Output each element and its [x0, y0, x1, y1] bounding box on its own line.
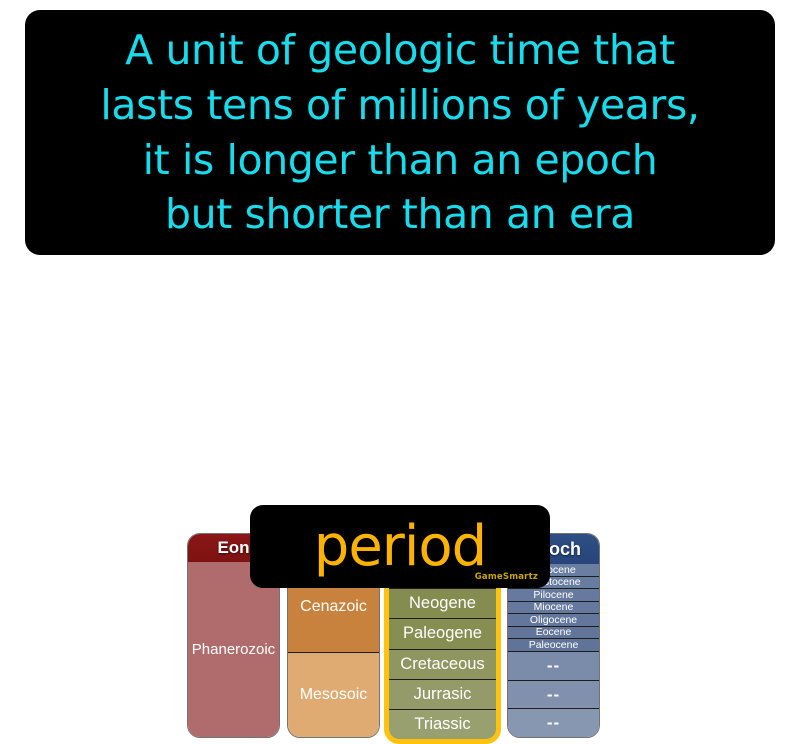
chart-cell-epoch-empty-3: -- — [508, 708, 599, 737]
chart-cell-pilocene: Pilocene — [508, 588, 599, 601]
chart-cell-triassic: Triassic — [389, 709, 496, 739]
term-banner: period GameSmartz — [250, 505, 550, 588]
chart-cell-epoch-empty-2: -- — [508, 680, 599, 709]
definition-text: A unit of geologic time that lasts tens … — [100, 23, 699, 241]
chart-cell-jurrasic: Jurrasic — [389, 679, 496, 709]
watermark-gamesmartz: GameSmartz — [475, 572, 538, 582]
chart-cell-neogene: Neogene — [389, 588, 496, 618]
epoch-coarse-rows: -- -- -- — [508, 651, 599, 737]
chart-cell-cretaceous: Cretaceous — [389, 649, 496, 679]
chart-cell-oligocene: Oligocene — [508, 613, 599, 626]
chart-cell-paleogene: Paleogene — [389, 618, 496, 648]
definition-banner: A unit of geologic time that lasts tens … — [25, 10, 775, 255]
term-label: period — [314, 519, 486, 575]
geologic-time-chart: Eon Phanerozoic Era Cenazoic Mesosoic PE… — [0, 255, 800, 500]
chart-cell-phanerozoic: Phanerozoic — [188, 562, 279, 737]
chart-cell-epoch-empty-1: -- — [508, 651, 599, 680]
chart-cell-eocene: Eocene — [508, 626, 599, 639]
chart-cell-paleocene: Paleocene — [508, 638, 599, 651]
chart-cell-miocene: Miocene — [508, 601, 599, 614]
chart-cell-mesosoic: Mesosoic — [288, 652, 379, 737]
